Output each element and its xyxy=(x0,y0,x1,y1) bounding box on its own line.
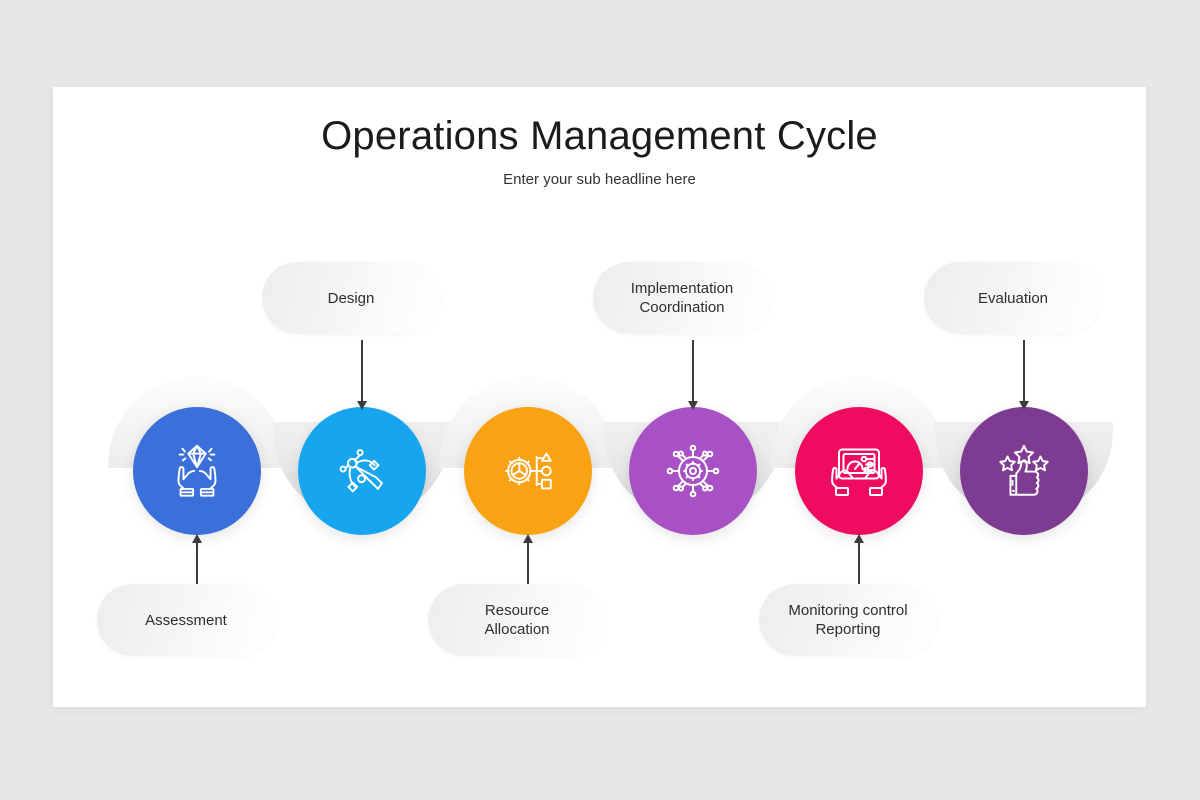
step-label-pill-design[interactable]: Design xyxy=(262,262,440,334)
connector-arrow-down xyxy=(361,340,363,402)
process-step-evaluation: Evaluation xyxy=(924,250,1124,650)
arrow-shaft xyxy=(361,340,363,402)
hands-tablet-dashboard-icon xyxy=(827,439,891,503)
step-label-pill-resource-allocation[interactable]: Resource Allocation xyxy=(428,584,606,656)
step-label-text: Design xyxy=(328,289,375,308)
step-icon-circle-design[interactable] xyxy=(298,407,426,535)
arrow-head-icon xyxy=(1019,401,1029,410)
arrow-shaft xyxy=(692,340,694,402)
arrow-head-icon xyxy=(854,534,864,543)
arrow-head-icon xyxy=(523,534,533,543)
arrow-head-icon xyxy=(192,534,202,543)
arrow-shaft xyxy=(1023,340,1025,402)
page-title: Operations Management Cycle xyxy=(53,114,1146,159)
step-label-pill-evaluation[interactable]: Evaluation xyxy=(924,262,1102,334)
step-label-pill-monitoring-control-reporting[interactable]: Monitoring control Reporting xyxy=(759,584,937,656)
slide-stage: Operations Management Cycle Enter your s… xyxy=(0,0,1200,800)
step-label-text: Implementation Coordination xyxy=(631,279,734,317)
arrow-head-icon xyxy=(688,401,698,410)
connector-arrow-down xyxy=(1023,340,1025,402)
arrow-head-icon xyxy=(357,401,367,410)
thumbs-up-stars-icon xyxy=(993,440,1055,502)
step-icon-circle-resource-allocation[interactable] xyxy=(464,407,592,535)
step-icon-circle-monitoring-control-reporting[interactable] xyxy=(795,407,923,535)
step-icon-circle-implementation-coordination[interactable] xyxy=(629,407,757,535)
connector-arrow-down xyxy=(692,340,694,402)
gear-network-icon xyxy=(661,439,725,503)
step-label-text: Evaluation xyxy=(978,289,1048,308)
page-subtitle: Enter your sub headline here xyxy=(53,171,1146,188)
gear-shapes-icon xyxy=(497,440,559,502)
step-label-text: Monitoring control Reporting xyxy=(788,601,907,639)
hands-holding-diamond-icon xyxy=(166,440,228,502)
step-icon-circle-evaluation[interactable] xyxy=(960,407,1088,535)
step-label-pill-assessment[interactable]: Assessment xyxy=(97,584,275,656)
step-label-pill-implementation-coordination[interactable]: Implementation Coordination xyxy=(593,262,771,334)
step-icon-circle-assessment[interactable] xyxy=(133,407,261,535)
pen-tool-icon xyxy=(331,440,393,502)
step-label-text: Assessment xyxy=(145,611,227,630)
step-label-text: Resource Allocation xyxy=(484,601,549,639)
